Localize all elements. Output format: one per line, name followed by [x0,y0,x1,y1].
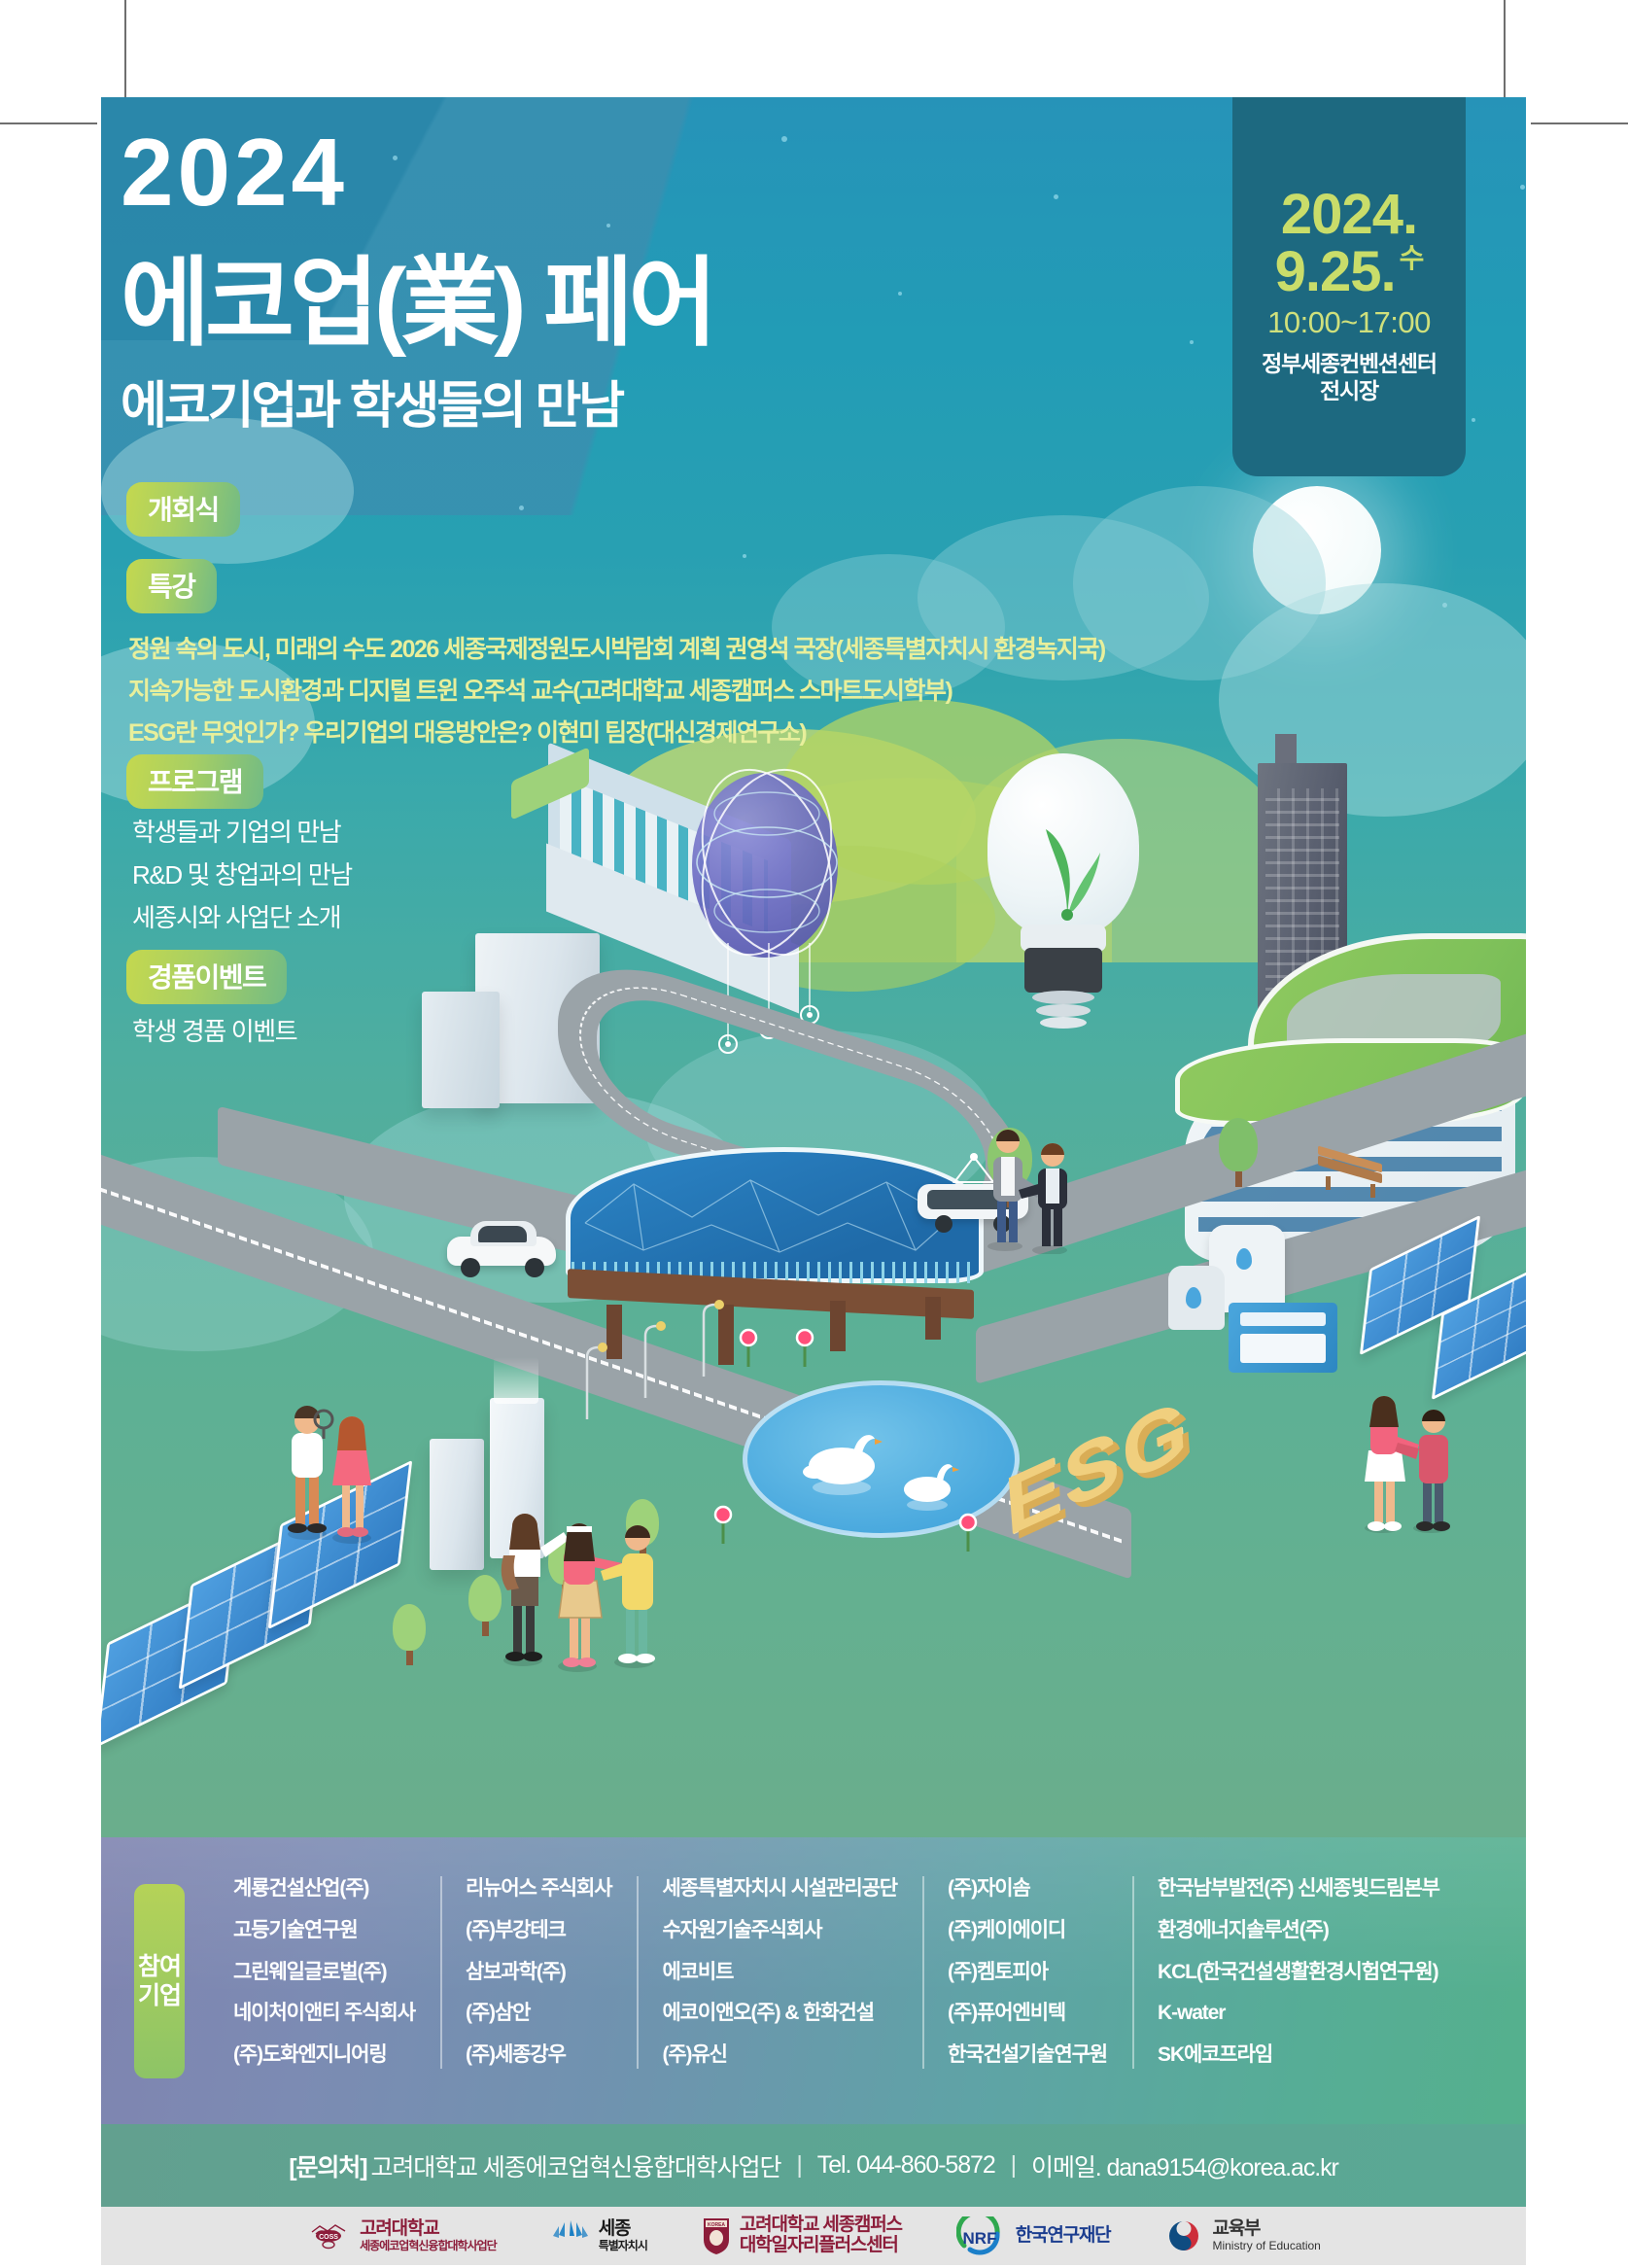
event-time: 10:00~17:00 [1267,305,1431,340]
company-column-2: 리뉴어스 주식회사 (주)부강테크 삼보과학(주) (주)삼안 (주)세종강우 [440,1868,612,2076]
logo-ministry-of-education: 교육부 Ministry of Education [1164,2217,1320,2254]
company-column-5: 한국남부발전(주) 신세종빛드림본부 환경에너지솔루션(주) KCL(한국건설생… [1132,1868,1439,2076]
eco-lightbulb-icon [976,753,1151,1045]
company-item: 리뉴어스 주식회사 [466,1868,612,1910]
water-treatment-plant [1092,1215,1345,1390]
date-year: 2024. [1281,188,1417,243]
crop-mark-top-right-h [1531,122,1628,124]
tree-5 [1219,1118,1258,1186]
company-item: (주)유신 [662,2035,897,2076]
venue-line-2: 전시장 [1262,377,1437,405]
people-group-left [278,1398,395,1544]
program-item-1: 학생들과 기업의 만남 [132,812,340,853]
company-item: (주)자이솜 [948,1868,1107,1910]
contact-org: 고려대학교 세종에코업혁신융합대학사업단 [370,2148,780,2183]
lecture-line-1: 정원 속의 도시, 미래의 수도 2026 세종국제정원도시박람회 계획 권영석… [128,629,1105,671]
coss-handshake-icon: COSS [306,2216,351,2255]
company-item: 한국남부발전(주) 신세종빛드림본부 [1158,1868,1439,1910]
company-item: 에코이앤오(주) & 한화건설 [662,1993,897,2035]
svg-text:KOREA: KOREA [708,2222,725,2228]
headline-year: 2024 [121,124,348,220]
badge-lecture: 특강 [126,559,217,613]
tree-1 [393,1604,426,1664]
logo-text-block: 고려대학교 세종에코업혁신융합대학사업단 [360,2219,497,2252]
company-item: 환경에너지솔루션(주) [1158,1910,1439,1952]
logo-subtitle: 세종에코업혁신융합대학사업단 [360,2240,497,2252]
badge-opening: 개회식 [126,482,240,537]
participating-companies-tab: 참여기업 [134,1884,185,2078]
lecture-line-2: 지속가능한 도시환경과 디지털 트윈 오주석 교수(고려대학교 세종캠퍼스 스마… [128,671,952,713]
date-day: 9.25. 수 [1275,243,1424,300]
participating-companies-columns: 계룡건설산업(주) 고등기술연구원 그린웨일글로벌(주) 네이처이앤티 주식회사… [208,1868,1512,2076]
contact-inner: [문의처] 고려대학교 세종에코업혁신융합대학사업단 | Tel. 044-86… [289,2148,1337,2183]
logo-title: 세종 [599,2219,647,2240]
company-item: (주)삼안 [466,1993,612,2035]
company-item: K-water [1158,1993,1439,2035]
people-group-students [488,1497,673,1672]
company-item: 그린웨일글로벌(주) [233,1952,415,1994]
logo-korea-university-coss: COSS 고려대학교 세종에코업혁신융합대학사업단 [306,2216,497,2255]
company-item: (주)부강테크 [466,1910,612,1952]
logo-title: 고려대학교 세종캠퍼스 [740,2216,902,2236]
company-column-1: 계룡건설산업(주) 고등기술연구원 그린웨일글로벌(주) 네이처이앤티 주식회사… [208,1868,415,2076]
company-item: 네이처이앤티 주식회사 [233,1993,415,2035]
korea-university-crest-icon: KOREA [702,2216,731,2255]
date-weekday: 수 [1400,245,1424,273]
logo-text-block: 한국연구재단 [1016,2226,1111,2247]
logo-sejong-city: 세종 특별자치시 [551,2218,647,2253]
contact-bar: [문의처] 고려대학교 세종에코업혁신융합대학사업단 | Tel. 044-86… [101,2124,1526,2207]
company-item: KCL(한국건설생활환경시험연구원) [1158,1952,1439,1994]
company-column-3: 세종특별자치시 시설관리공단 수자원기술주식회사 에코비트 에코이앤오(주) &… [637,1868,897,2076]
crop-mark-top-right-v [1504,0,1506,97]
logo-subtitle: 특별자치시 [599,2240,647,2252]
company-item: (주)퓨어엔비텍 [948,1993,1107,2035]
logo-text-block: 교육부 Ministry of Education [1212,2219,1320,2252]
logo-nrf: NRF 한국연구재단 [956,2216,1111,2255]
logo-text-block: 세종 특별자치시 [599,2219,647,2252]
tower-glow [494,1357,538,1404]
crop-mark-top-left-h [0,122,97,124]
people-couple-right [1355,1380,1462,1536]
company-item: 수자원기술주식회사 [662,1910,897,1952]
sejong-wing-icon [551,2218,590,2253]
logo-title: 고려대학교 [360,2219,497,2240]
company-column-4: (주)자이솜 (주)케이에이디 (주)켐토피아 (주)퓨어엔비텍 한국건설기술연… [922,1868,1107,2076]
prize-item-1: 학생 경품 이벤트 [132,1011,296,1052]
company-item: 고등기술연구원 [233,1910,415,1952]
lecture-line-3: ESG란 무엇인가? 우리기업의 대응방안은? 이현미 팀장(대신경제연구소) [128,713,806,754]
company-item: 계룡건설산업(주) [233,1868,415,1910]
company-item: 삼보과학(주) [466,1952,612,1994]
logo-text-block: 고려대학교 세종캠퍼스 대학일자리플러스센터 [740,2216,902,2256]
svg-text:COSS: COSS [319,2234,338,2241]
contact-email[interactable]: 이메일. dana9154@korea.ac.kr [1031,2148,1338,2183]
logo-subtitle: 대학일자리플러스센터 [740,2236,902,2256]
contact-label: [문의처] [289,2148,366,2183]
contact-divider-1: | [796,2151,801,2180]
contact-tel[interactable]: Tel. 044-860-5872 [817,2151,995,2180]
program-item-3: 세종시와 사업단 소개 [132,897,340,938]
headline-title: 에코업(業) 페어 [121,253,712,355]
date-venue-box: 2024. 9.25. 수 10:00~17:00 정부세종컨벤션센터 전시장 [1232,97,1466,476]
nrf-swoosh-icon: NRF [956,2216,1007,2255]
date-day-number: 9.25. [1275,243,1396,300]
contact-divider-2: | [1011,2151,1016,2180]
footer-logo-strip: COSS 고려대학교 세종에코업혁신융합대학사업단 세종 특별자치시 [101,2207,1526,2265]
program-item-2: R&D 및 창업과의 만남 [132,855,352,895]
logo-korea-university-jobplus: KOREA 고려대학교 세종캠퍼스 대학일자리플러스센터 [702,2216,902,2256]
venue-line-1: 정부세종컨벤션센터 [1262,350,1437,378]
participating-companies-panel: 참여기업 계룡건설산업(주) 고등기술연구원 그린웨일글로벌(주) 네이처이앤티… [101,1837,1526,2124]
logo-title: 교육부 [1212,2219,1320,2240]
svg-text:NRF: NRF [962,2229,996,2248]
park-bench [1318,1155,1386,1194]
company-item: (주)세종강우 [466,2035,612,2076]
badge-program: 프로그램 [126,754,263,809]
taegeuk-icon [1164,2217,1203,2254]
white-car [443,1217,560,1277]
company-item: (주)도화엔지니어링 [233,2035,415,2076]
company-item: (주)켐토피아 [948,1952,1107,1994]
street-lamps [568,1283,801,1439]
people-handshake-pair [976,1108,1083,1254]
badge-prize: 경품이벤트 [126,950,287,1004]
headline-subtitle: 에코기업과 학생들의 만남 [121,381,622,432]
crop-mark-top-left-v [124,0,126,97]
company-item: 세종특별자치시 시설관리공단 [662,1868,897,1910]
venue-name: 정부세종컨벤션센터 전시장 [1262,350,1437,406]
company-item: 한국건설기술연구원 [948,2035,1107,2076]
poster-canvas: 2024. 9.25. 수 10:00~17:00 정부세종컨벤션센터 전시장 … [101,97,1526,2265]
company-item: 에코비트 [662,1952,897,1994]
tower-white-small [430,1439,484,1570]
company-item: (주)케이에이디 [948,1910,1107,1952]
building-left-block-2 [422,992,500,1108]
logo-subtitle: Ministry of Education [1212,2240,1320,2252]
logo-subtitle: 한국연구재단 [1016,2226,1111,2247]
company-item: SK에코프라임 [1158,2035,1439,2076]
